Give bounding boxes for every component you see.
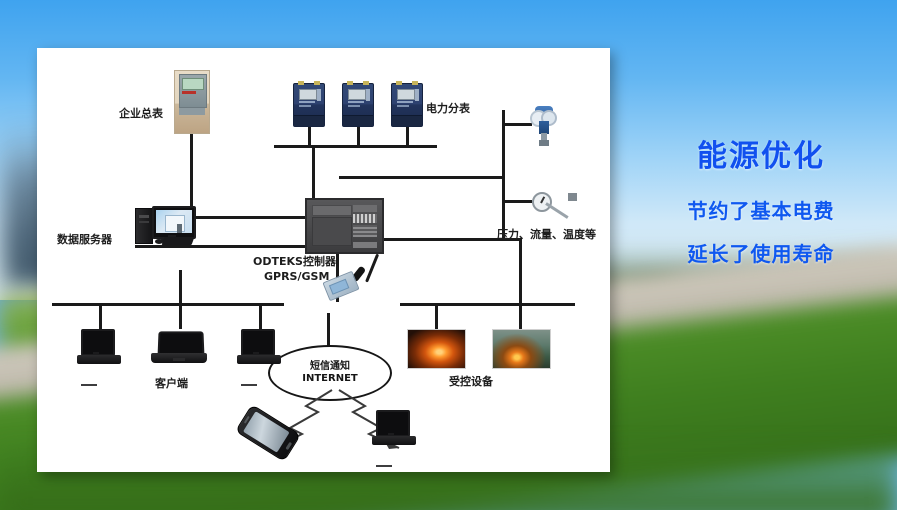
wire-mainmeter-to-controller — [190, 216, 305, 219]
wire-client1-drop — [99, 303, 102, 329]
wire-sensor-vertical-trunk — [502, 110, 505, 240]
enterprise-main-meter[interactable] — [174, 70, 210, 134]
caption-line-1: 节约了基本电费 — [630, 195, 892, 224]
meter-indicator — [182, 91, 196, 94]
controller-button-row — [353, 242, 377, 248]
label-sensors: 压力、流量、温度等 — [497, 226, 596, 242]
laptop-touchpad — [173, 358, 185, 361]
wire-client-bus — [52, 303, 284, 306]
wire-submeter-bus — [274, 145, 437, 148]
submeter-side-panel — [415, 89, 419, 101]
wire-controller-to-sensor-trunk — [339, 176, 505, 179]
wire-modem-to-internet — [327, 313, 330, 349]
pc-base — [372, 436, 416, 445]
transmitter-process-connection — [539, 140, 549, 146]
pc-base-detail — [241, 384, 257, 386]
submeter-lcd — [397, 89, 415, 100]
meter-terminal-cover — [179, 108, 205, 115]
controller-io-block — [353, 225, 377, 237]
submeter-line-2 — [299, 105, 311, 107]
pc-base-detail — [376, 465, 392, 467]
meter-lcd — [182, 78, 204, 90]
diagram-panel: 企业总表 — [37, 48, 610, 472]
power-submeter-1[interactable] — [293, 83, 325, 127]
submeter-cap-right — [363, 81, 369, 85]
pressure-transmitter[interactable] — [533, 106, 555, 146]
power-submeter-2[interactable] — [342, 83, 374, 127]
wire-equipment1-drop — [435, 303, 438, 329]
screen-window — [165, 215, 185, 232]
temperature-probe — [545, 202, 568, 219]
wire-client3-drop — [259, 303, 262, 329]
remote-desktop-pc[interactable] — [372, 410, 416, 446]
submeter-side-panel — [317, 89, 321, 101]
wire-sensor-trunk-drop — [312, 176, 315, 198]
data-server-workstation[interactable] — [135, 206, 193, 246]
caption-block: 能源优化 节约了基本电费 延长了使用寿命 — [630, 140, 892, 267]
wire-submeter1-drop — [308, 125, 311, 147]
pc-base — [77, 355, 121, 364]
submeter-side-panel — [366, 89, 370, 101]
wire-submeter3-drop — [406, 125, 409, 147]
tower-drive-bay — [139, 215, 149, 218]
label-gprs: GPRS/GSM — [264, 270, 329, 283]
submeter-line-1 — [397, 101, 413, 103]
equipment-photo-furnace[interactable] — [407, 329, 466, 369]
submeter-line-1 — [299, 101, 315, 103]
submeter-cap-right — [412, 81, 418, 85]
caption-title: 能源优化 — [630, 140, 892, 173]
caption-line-2: 延长了使用寿命 — [630, 238, 892, 267]
submeter-line-2 — [348, 105, 360, 107]
pc-base — [237, 355, 281, 364]
controller-terminal-block — [353, 214, 377, 223]
power-submeter-3[interactable] — [391, 83, 423, 127]
label-controller: ODTEKS控制器 — [253, 253, 336, 269]
server-mouse — [155, 239, 163, 244]
submeter-lcd — [299, 89, 317, 100]
submeter-line-2 — [397, 105, 409, 107]
gprs-gsm-modem[interactable] — [325, 260, 385, 306]
submeter-line-1 — [348, 101, 364, 103]
bubble-line-2: INTERNET — [270, 373, 390, 384]
equipment-photo-foundry[interactable] — [492, 329, 551, 369]
label-sub-meters: 电力分表 — [426, 100, 470, 116]
label-main-meter: 企业总表 — [119, 105, 163, 121]
odteks-controller[interactable] — [305, 198, 384, 254]
submeter-base — [392, 115, 422, 126]
slide-canvas: 企业总表 — [0, 0, 897, 510]
client-laptop[interactable] — [151, 331, 207, 365]
submeter-base — [294, 115, 324, 126]
label-clients: 客户端 — [155, 375, 188, 391]
server-keyboard — [162, 237, 195, 245]
label-data-server: 数据服务器 — [57, 231, 112, 247]
submeter-cap-left — [347, 81, 353, 85]
wire-client2-drop — [179, 303, 182, 329]
system-topology-diagram: 企业总表 — [37, 48, 610, 472]
tower-vent — [139, 221, 149, 223]
pressure-gauge — [532, 192, 552, 212]
submeter-cap-left — [396, 81, 402, 85]
wire-equipment-trunk-drop — [519, 238, 522, 305]
submeter-cap-right — [314, 81, 320, 85]
server-tower — [135, 208, 153, 244]
label-controlled-equipment: 受控设备 — [449, 373, 493, 389]
client-desktop-2[interactable] — [237, 329, 281, 365]
pressure-gauge-assembly[interactable] — [532, 192, 592, 226]
submeter-cap-left — [298, 81, 304, 85]
client-desktop-1[interactable] — [77, 329, 121, 365]
controller-display — [312, 205, 352, 216]
wire-sensor-transmitter-branch — [502, 123, 532, 126]
wire-equipment2-drop — [519, 303, 522, 329]
wire-equipment-bus — [400, 303, 575, 306]
submeter-base — [343, 115, 373, 126]
server-screen — [156, 210, 192, 233]
gauge-needle — [540, 196, 545, 203]
modem-antenna — [365, 254, 379, 283]
wire-submeter2-drop — [357, 125, 360, 147]
controller-status-strip — [353, 205, 377, 212]
modem-display — [329, 279, 349, 295]
phone-home-button — [285, 442, 292, 450]
pc-base-detail — [81, 384, 97, 386]
wire-server-to-clientbus — [179, 270, 182, 305]
screen-chart — [177, 224, 182, 233]
probe-head — [568, 193, 577, 201]
bubble-line-1: 短信通知 — [270, 357, 390, 372]
wire-sensor-gauge-branch — [502, 200, 532, 203]
controller-main-panel — [312, 217, 352, 246]
submeter-lcd — [348, 89, 366, 100]
